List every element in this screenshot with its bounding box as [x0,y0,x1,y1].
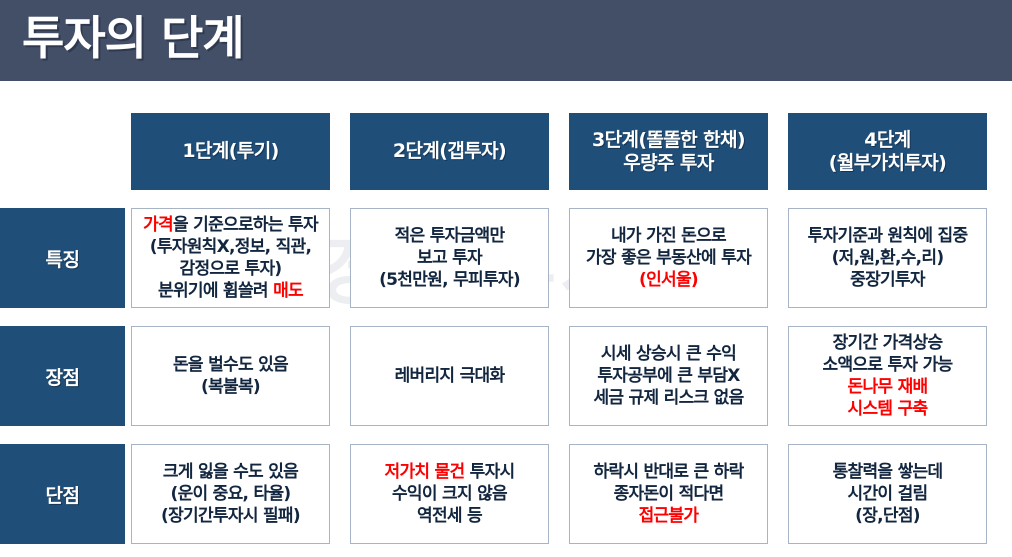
page-title: 투자의 단계 [22,7,244,69]
cell-text-segment: 통찰력을 쌓는데 시간이 걸림 (장,단점) [833,462,943,526]
cell-advantages-stage-2: 레버리지 극대화 [350,326,549,426]
cell-disadvantages-stage-1: 크게 잃을 수도 있음 (운이 중요, 타율) (장기간투자시 필패) [131,444,330,544]
cell-advantages-stage-1: 돈을 벌수도 있음 (복불복) [131,326,330,426]
cell-text-segment: 가격 [143,215,173,235]
cell-text-segment: 크게 잃을 수도 있음 (운이 중요, 타율) (장기간투자시 필패) [161,462,300,526]
table-row-advantages: 장점돈을 벌수도 있음 (복불복)레버리지 극대화시세 상승시 큰 수익 투자공… [0,326,1012,426]
cell-text-segment: 돈나무 재배 시스템 구축 [848,377,928,419]
row-label-characteristics: 특징 [0,208,125,308]
column-header-stage-1: 1단계(투기) [131,113,330,190]
cell-text-segment: 돈을 벌수도 있음 (복불복) [173,355,288,397]
cell-characteristics-stage-1: 가격을 기준으로하는 투자 (투자원칙X,정보, 직관, 감정으로 투자) 분위… [131,208,330,308]
cell-advantages-stage-3: 시세 상승시 큰 수익 투자공부에 큰 부담X 세금 규제 리스크 없음 [569,326,768,426]
row-label-advantages: 장점 [0,326,125,426]
investment-stages-table: 1단계(투기)2단계(갭투자)3단계(똘똘한 한채) 우량주 투자4단계 (월부… [0,81,1012,557]
cell-text-segment: 매도 [273,281,303,301]
cell-text-segment: 시세 상승시 큰 수익 투자공부에 큰 부담X 세금 규제 리스크 없음 [593,344,743,408]
column-header-stage-2: 2단계(갭투자) [350,113,549,190]
column-header-stage-4: 4단계 (월부가치투자) [788,113,987,190]
cell-text-segment: (인서울) [639,270,698,290]
row-label-disadvantages: 단점 [0,444,125,544]
cell-text-segment: 투자기준과 원칙에 집중 (저,원,환,수,리) 중장기투자 [808,226,968,290]
cell-characteristics-stage-3: 내가 가진 돈으로 가장 좋은 부동산에 투자 (인서울) [569,208,768,308]
cell-text-segment: 저가치 물건 [385,462,465,482]
cell-disadvantages-stage-4: 통찰력을 쌓는데 시간이 걸림 (장,단점) [788,444,987,544]
cell-text-segment: 레버리지 극대화 [395,366,505,386]
cell-disadvantages-stage-2: 저가치 물건 투자시 수익이 크지 않음 역전세 등 [350,444,549,544]
cell-text-segment: 접근불가 [639,506,699,526]
cell-characteristics-stage-4: 투자기준과 원칙에 집중 (저,원,환,수,리) 중장기투자 [788,208,987,308]
cell-disadvantages-stage-3: 하락시 반대로 큰 하락 종자돈이 적다면 접근불가 [569,444,768,544]
cell-text-segment: 적은 투자금액만 보고 투자 (5천만원, 무피투자) [379,226,520,290]
cell-text-segment: 내가 가진 돈으로 가장 좋은 부동산에 투자 [586,226,751,268]
cell-text-segment: 하락시 반대로 큰 하락 종자돈이 적다면 [593,462,743,504]
table-row-characteristics: 특징가격을 기준으로하는 투자 (투자원칙X,정보, 직관, 감정으로 투자) … [0,208,1012,308]
cell-characteristics-stage-2: 적은 투자금액만 보고 투자 (5천만원, 무피투자) [350,208,549,308]
cell-advantages-stage-4: 장기간 가격상승 소액으로 투자 가능 돈나무 재배 시스템 구축 [788,326,987,426]
column-header-stage-3: 3단계(똘똘한 한채) 우량주 투자 [569,113,768,190]
table-header-row: 1단계(투기)2단계(갭투자)3단계(똘똘한 한채) 우량주 투자4단계 (월부… [0,113,1012,190]
title-bar: 투자의 단계 [0,0,1012,81]
table-row-disadvantages: 단점크게 잃을 수도 있음 (운이 중요, 타율) (장기간투자시 필패)저가치… [0,444,1012,544]
cell-text-segment: 장기간 가격상승 소액으로 투자 가능 [823,333,953,375]
